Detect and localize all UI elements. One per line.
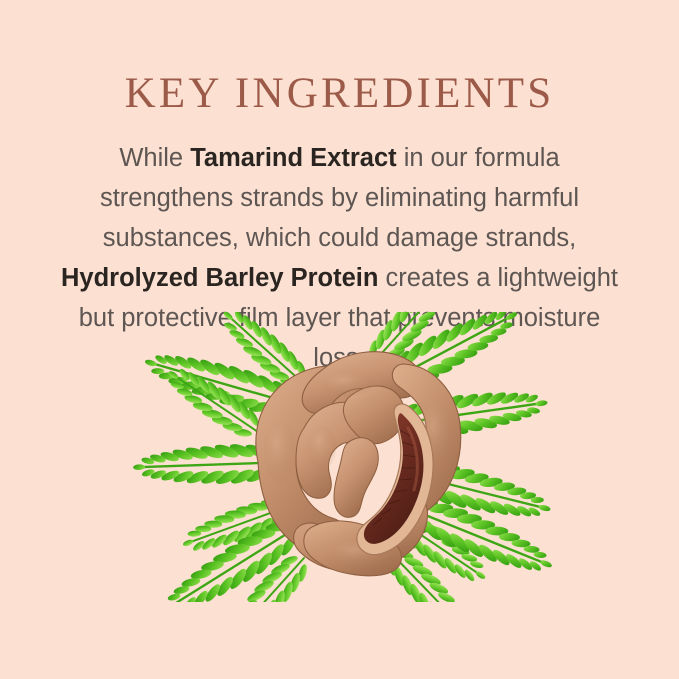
ingredient-name-tamarind-extract: Tamarind Extract	[190, 144, 396, 172]
tamarind-product-image	[108, 312, 571, 602]
description-segment-1: While	[119, 144, 190, 172]
ingredient-name-hydrolyzed-barley-protein: Hydrolyzed Barley Protein	[61, 264, 378, 292]
ingredient-info-panel: KEY INGREDIENTS While Tamarind Extract i…	[0, 0, 679, 679]
page-title: KEY INGREDIENTS	[0, 69, 679, 119]
